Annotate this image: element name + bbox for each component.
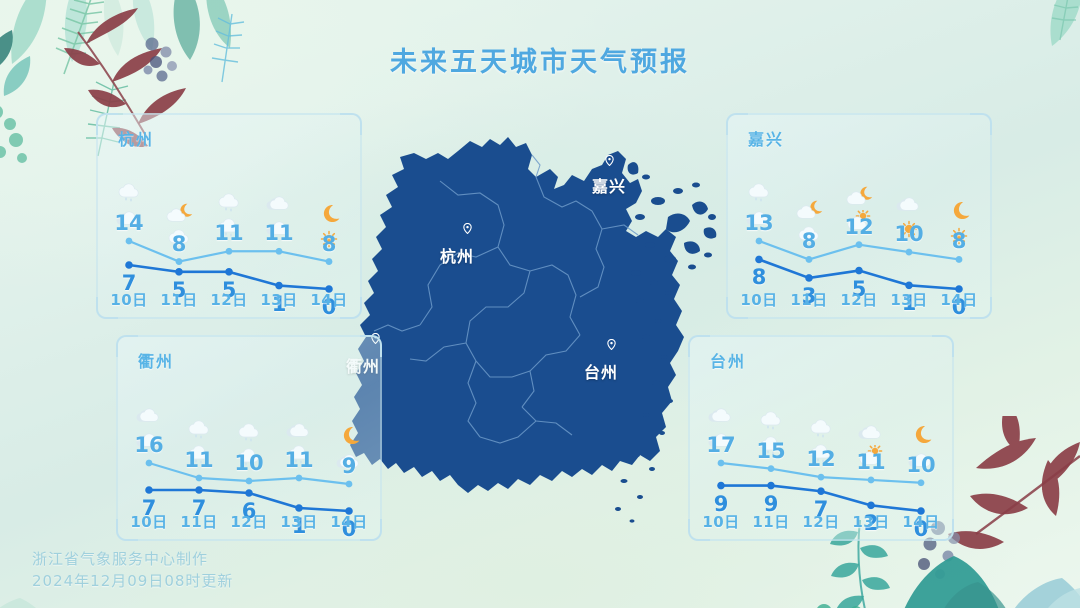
forecast-day-column[interactable]: 16710日 — [124, 335, 174, 541]
footer-line-updated: 2024年12月09日08时更新 — [32, 570, 233, 592]
forecast-day-column[interactable]: 10014日 — [896, 335, 946, 541]
panel-edge — [116, 357, 118, 519]
forecast-columns: 14710日 8511日 11512日 11113日 8014日 — [104, 113, 354, 319]
high-temperature: 11 — [174, 448, 224, 472]
zhejiang-map[interactable]: 嘉兴 杭州 衢州 台州 — [340, 125, 740, 545]
high-temperature: 8 — [154, 232, 204, 256]
forecast-day-label: 11日 — [784, 289, 834, 310]
high-temperature: 17 — [696, 433, 746, 457]
forecast-day-label: 11日 — [746, 511, 796, 532]
forecast-day-label: 14日 — [324, 511, 374, 532]
high-temperature: 11 — [846, 450, 896, 474]
cloudy-icon — [894, 192, 924, 216]
moon-cloud-icon — [164, 202, 194, 226]
forecast-day-column[interactable]: 11213日 — [846, 335, 896, 541]
forecast-day-label: 13日 — [254, 289, 304, 310]
rain-cloud-icon — [114, 181, 144, 205]
panel-edge — [990, 135, 992, 297]
panel-edge — [360, 135, 362, 297]
cloudy-icon — [134, 403, 164, 427]
forecast-columns: 16710日 11711日 10612日 11113日 9014日 — [124, 335, 374, 541]
high-temperature: 8 — [304, 232, 354, 256]
page-title: 未来五天城市天气预报 — [0, 40, 1080, 79]
forecast-day-column[interactable]: 10612日 — [224, 335, 274, 541]
forecast-day-column[interactable]: 17910日 — [696, 335, 746, 541]
weather-forecast-poster: 未来五天城市天气预报 — [0, 0, 1080, 608]
forecast-day-column[interactable]: 11512日 — [204, 113, 254, 319]
forecast-day-column[interactable]: 8511日 — [154, 113, 204, 319]
forecast-day-label: 10日 — [104, 289, 154, 310]
forecast-day-column[interactable]: 11113日 — [254, 113, 304, 319]
forecast-day-label: 10日 — [124, 511, 174, 532]
panel-edge — [952, 357, 954, 519]
forecast-day-column[interactable]: 12712日 — [796, 335, 846, 541]
forecast-day-column[interactable]: 8014日 — [934, 113, 984, 319]
high-temperature: 11 — [204, 221, 254, 245]
panel-edge — [380, 357, 382, 519]
location-pin-icon — [606, 339, 617, 350]
moon-cloud-icon — [844, 185, 874, 209]
forecast-day-label: 11日 — [154, 289, 204, 310]
forecast-day-label: 12日 — [224, 511, 274, 532]
map-label-taizhou: 台州 — [584, 359, 618, 383]
moon-icon — [944, 199, 974, 223]
low-temperature: 8 — [734, 265, 784, 289]
forecast-day-label: 10日 — [734, 289, 784, 310]
city-forecast-panel-台州[interactable]: 台州 17910日 15911日 12712日 11213日 10014日 — [688, 335, 954, 541]
forecast-day-label: 10日 — [696, 511, 746, 532]
forecast-day-column[interactable]: 8311日 — [784, 113, 834, 319]
forecast-day-label: 12日 — [834, 289, 884, 310]
location-pin-icon — [604, 155, 615, 166]
rain-cloud-icon — [744, 181, 774, 205]
rain-cloud-icon — [184, 418, 214, 442]
map-label-hangzhou: 杭州 — [440, 243, 474, 267]
forecast-columns: 17910日 15911日 12712日 11213日 10014日 — [696, 335, 946, 541]
high-temperature: 8 — [934, 229, 984, 253]
cloudy-icon — [706, 403, 736, 427]
forecast-day-label: 13日 — [884, 289, 934, 310]
high-temperature: 13 — [734, 211, 784, 235]
forecast-day-label: 14日 — [304, 289, 354, 310]
forecast-day-column[interactable]: 9014日 — [324, 335, 374, 541]
forecast-day-column[interactable]: 8014日 — [304, 113, 354, 319]
high-temperature: 11 — [254, 221, 304, 245]
city-forecast-panel-衢州[interactable]: 衢州 16710日 11711日 10612日 11113日 9014日 — [116, 335, 382, 541]
high-temperature: 10 — [224, 451, 274, 475]
forecast-day-column[interactable]: 11113日 — [274, 335, 324, 541]
forecast-day-label: 11日 — [174, 511, 224, 532]
city-forecast-panel-杭州[interactable]: 杭州 14710日 8511日 11512日 11113日 8014日 — [96, 113, 362, 319]
cloudy-icon — [856, 420, 886, 444]
panel-edge — [688, 357, 690, 519]
panel-edge — [96, 135, 98, 297]
forecast-columns: 13810日 8311日 12512日 10113日 8014日 — [734, 113, 984, 319]
forecast-day-column[interactable]: 10113日 — [884, 113, 934, 319]
forecast-day-column[interactable]: 15911日 — [746, 335, 796, 541]
high-temperature: 10 — [896, 453, 946, 477]
forecast-day-label: 14日 — [934, 289, 984, 310]
forecast-day-label: 14日 — [896, 511, 946, 532]
map-label-jiaxing: 嘉兴 — [592, 173, 626, 197]
forecast-day-column[interactable]: 12512日 — [834, 113, 884, 319]
high-temperature: 8 — [784, 229, 834, 253]
forecast-day-label: 12日 — [796, 511, 846, 532]
footer-line-producer: 浙江省气象服务中心制作 — [32, 548, 233, 570]
forecast-day-label: 13日 — [846, 511, 896, 532]
high-temperature: 12 — [796, 447, 846, 471]
high-temperature: 11 — [274, 448, 324, 472]
high-temperature: 10 — [884, 222, 934, 246]
city-forecast-panel-嘉兴[interactable]: 嘉兴 13810日 8311日 12512日 10113日 8014日 — [726, 113, 992, 319]
high-temperature: 14 — [104, 211, 154, 235]
moon-icon — [314, 202, 344, 226]
high-temperature: 9 — [324, 454, 374, 478]
cloudy-icon — [284, 418, 314, 442]
moon-cloud-icon — [794, 199, 824, 223]
rain-cloud-icon — [214, 191, 244, 215]
high-temperature: 16 — [124, 433, 174, 457]
rain-cloud-icon — [806, 417, 836, 441]
panel-edge — [726, 135, 728, 297]
forecast-day-column[interactable]: 14710日 — [104, 113, 154, 319]
forecast-day-column[interactable]: 11711日 — [174, 335, 224, 541]
high-temperature: 15 — [746, 439, 796, 463]
rain-cloud-icon — [756, 409, 786, 433]
forecast-day-label: 13日 — [274, 511, 324, 532]
moon-icon — [334, 424, 364, 448]
rain-cloud-icon — [234, 421, 264, 445]
cloudy-icon — [264, 191, 294, 215]
location-pin-icon — [462, 223, 473, 234]
footer: 浙江省气象服务中心制作 2024年12月09日08时更新 — [32, 548, 233, 592]
forecast-day-label: 12日 — [204, 289, 254, 310]
high-temperature: 12 — [834, 215, 884, 239]
moon-icon — [906, 423, 936, 447]
forecast-day-column[interactable]: 13810日 — [734, 113, 784, 319]
